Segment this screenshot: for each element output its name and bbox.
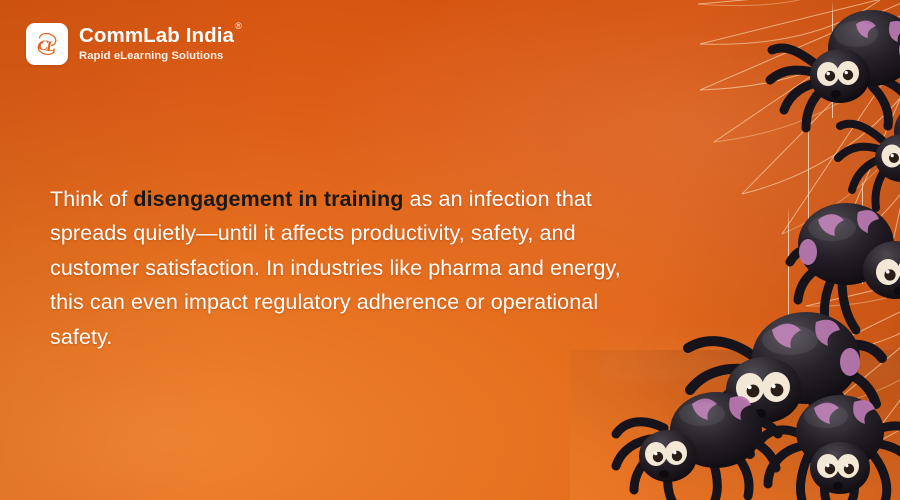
headline-copy: Think of disengagement in training as an… (50, 182, 650, 355)
logo-company-name-text: CommLab India (79, 24, 234, 47)
logo-company-name: CommLab India® (79, 26, 234, 47)
brand-logo[interactable]: C L CommLab India® Rapid eLearning Solut… (26, 23, 234, 65)
commlab-cl-monogram-icon: C L (26, 23, 68, 65)
headline-emphasis: disengagement in training (133, 187, 403, 211)
logo-tagline: Rapid eLearning Solutions (79, 51, 234, 62)
registered-trademark-icon: ® (235, 22, 242, 31)
halloween-banner: C L CommLab India® Rapid eLearning Solut… (0, 0, 900, 500)
headline-part-1: Think of (50, 187, 133, 211)
spider-bottom-right (748, 386, 900, 500)
svg-text:L: L (45, 39, 55, 55)
